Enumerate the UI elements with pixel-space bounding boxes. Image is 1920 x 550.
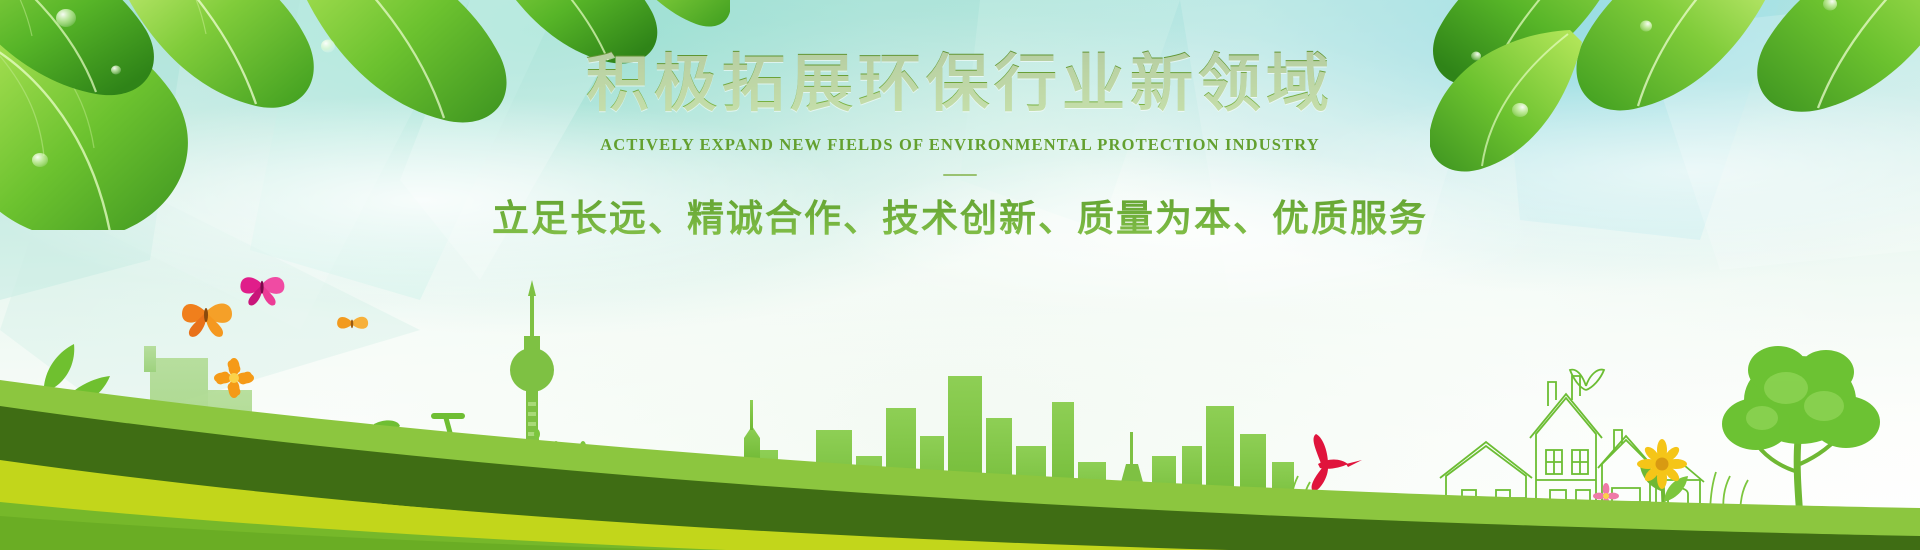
divider: [943, 174, 977, 176]
page-subtitle: ACTIVELY EXPAND NEW FIELDS OF ENVIRONMEN…: [0, 115, 1920, 155]
eco-banner: 积极拓展环保行业新领域 ACTIVELY EXPAND NEW FIELDS O…: [0, 0, 1920, 550]
butterfly-magenta: [240, 277, 284, 306]
banner-copy: 积极拓展环保行业新领域 ACTIVELY EXPAND NEW FIELDS O…: [0, 0, 1920, 241]
wave-bands: [0, 310, 1920, 550]
page-title: 积极拓展环保行业新领域: [0, 0, 1920, 115]
company-tagline: 立足长远、精诚合作、技术创新、质量为本、优质服务: [0, 176, 1920, 241]
